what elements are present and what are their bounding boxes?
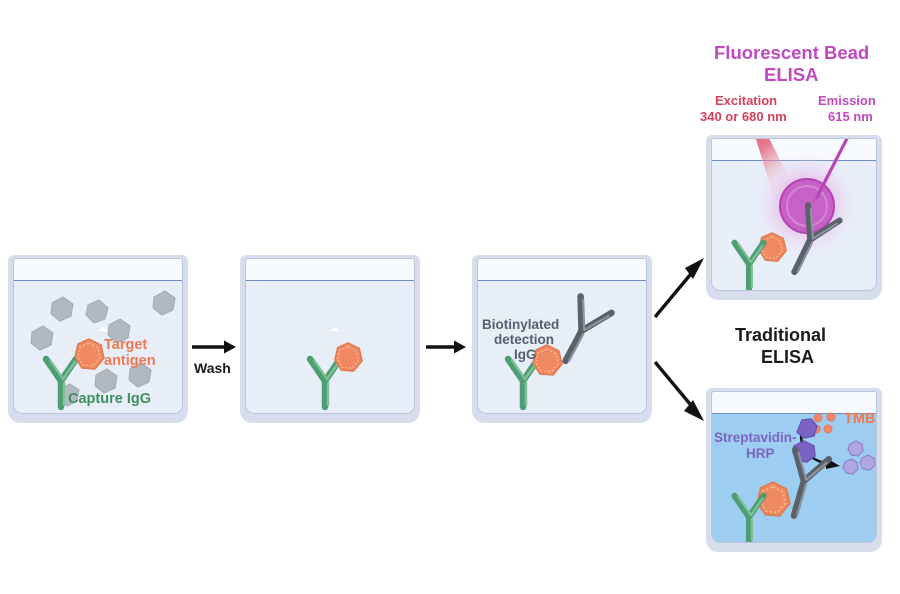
excitation-label-line1: Excitation xyxy=(715,93,777,108)
fluorescent-elisa-title-line1: Fluorescent Bead xyxy=(714,42,869,63)
streptavidin-hrp-label-line2: HRP xyxy=(746,446,775,462)
detection-igg-label-line3: IgG xyxy=(514,347,537,362)
well-fluorescent-bead-elisa xyxy=(706,135,882,300)
well-liquid xyxy=(245,258,415,414)
target-antigen-icon xyxy=(332,341,364,373)
well-step-1-capture: Capture IgG Target antigen xyxy=(8,255,188,423)
target-antigen-icon xyxy=(72,337,106,371)
emission-label-line1: Emission xyxy=(818,93,876,108)
well-step-2-washed xyxy=(240,255,420,423)
well-step-3-detection: Biotinylated detection IgG xyxy=(472,255,652,423)
arrow-branch-up-icon xyxy=(652,255,708,321)
wash-label: Wash xyxy=(194,360,231,376)
figure-canvas: Capture IgG Target antigen Wash xyxy=(0,0,900,594)
target-antigen-label-line1: Target xyxy=(104,338,147,354)
traditional-elisa-title-line2: ELISA xyxy=(761,347,814,368)
arrow-detection-icon xyxy=(424,338,468,356)
detection-igg-label-line1: Biotinylated xyxy=(482,317,559,332)
well-headspace xyxy=(478,259,646,281)
arrow-wash-icon xyxy=(190,338,238,356)
arrow-branch-down-icon xyxy=(652,358,708,424)
tmb-label: TMB xyxy=(844,411,875,427)
capture-igg-icon xyxy=(726,488,772,543)
capture-igg-icon xyxy=(726,235,772,291)
capture-igg-label: Capture IgG xyxy=(68,391,151,407)
excitation-label-line2: 340 or 680 nm xyxy=(700,109,787,124)
well-liquid xyxy=(711,138,877,291)
target-antigen-label-line2: antigen xyxy=(104,354,156,370)
emission-label-line2: 615 nm xyxy=(828,109,873,124)
well-traditional-elisa: Streptavidin- HRP TMB xyxy=(706,388,882,552)
detection-igg-label-line2: detection xyxy=(494,332,554,347)
fluorescent-elisa-title-line2: ELISA xyxy=(764,64,818,85)
streptavidin-hrp-label-line1: Streptavidin- xyxy=(714,430,797,446)
traditional-elisa-title-line1: Traditional xyxy=(735,325,826,346)
